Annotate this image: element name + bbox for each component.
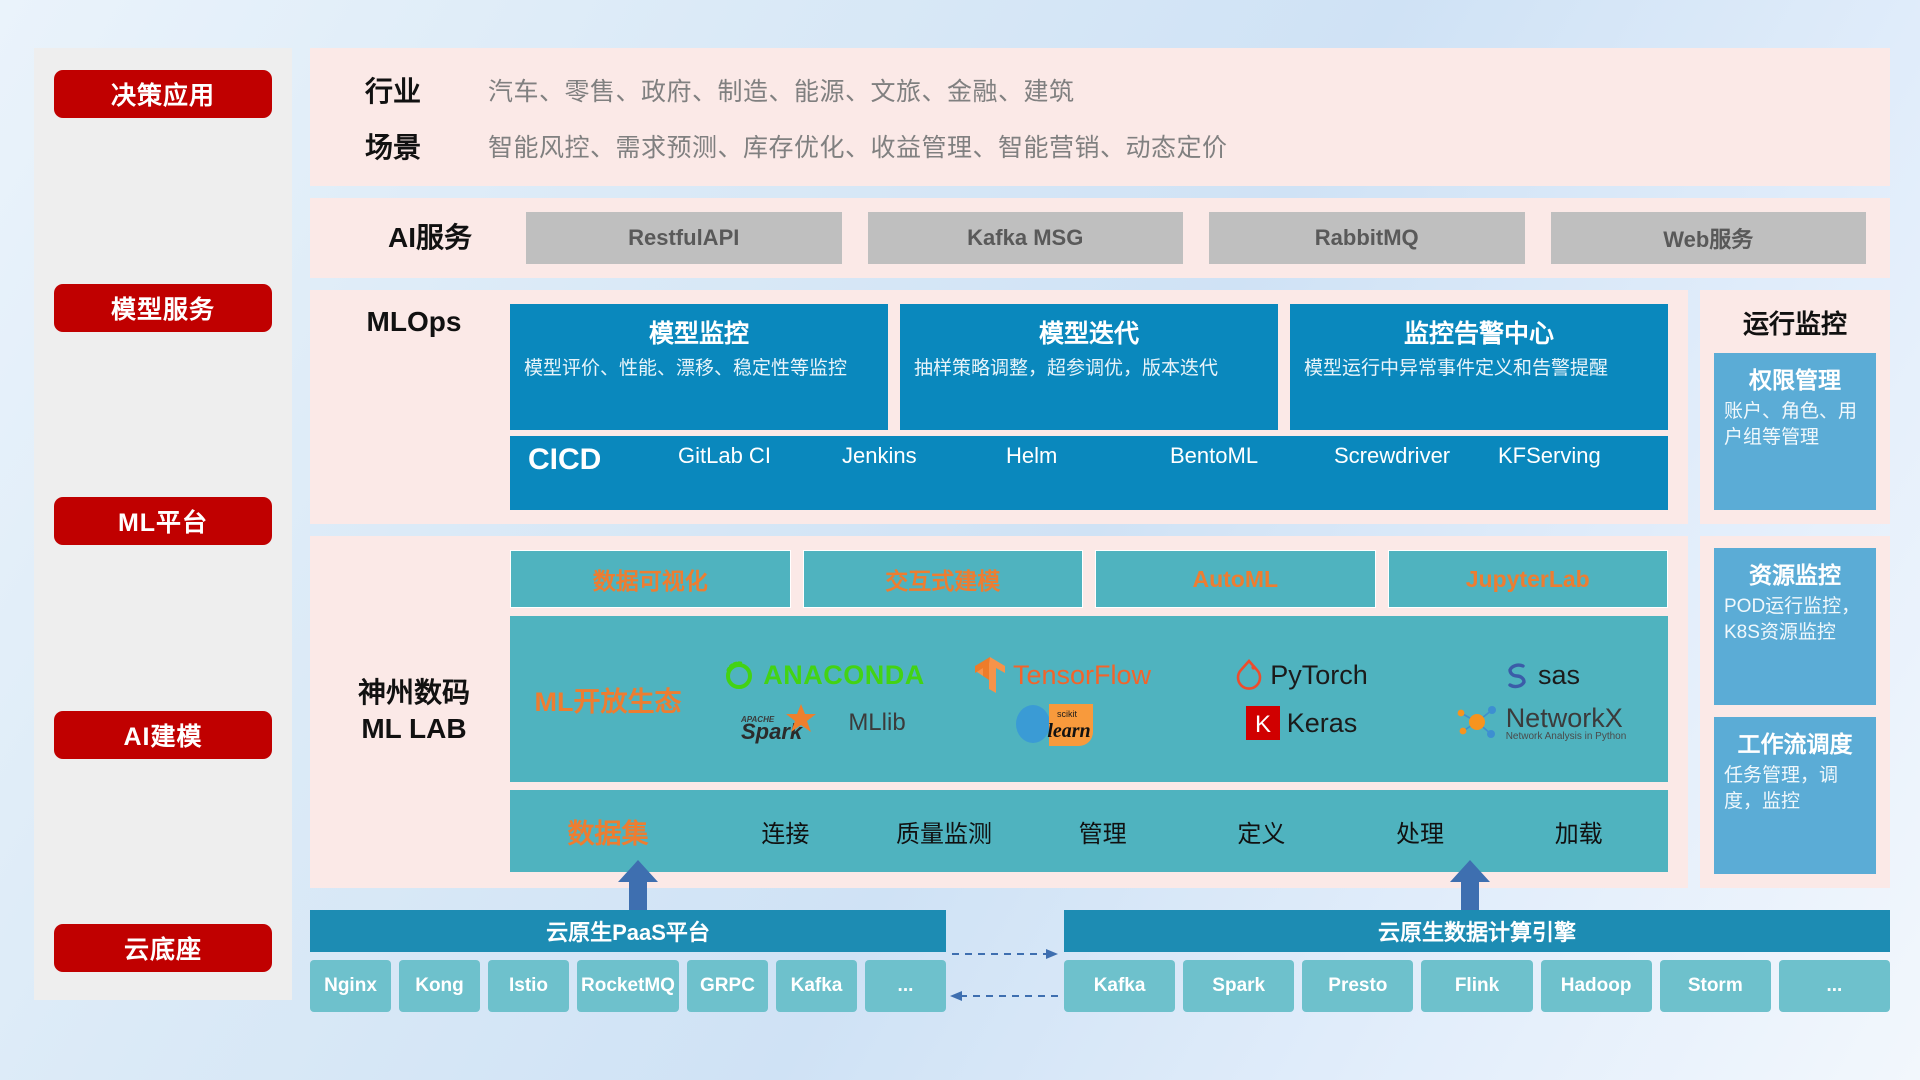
tensorflow-logo[interactable]: TensorFlow	[974, 656, 1151, 694]
monitor-card-title: 权限管理	[1724, 361, 1866, 395]
industry-label: 行业	[320, 70, 466, 110]
monitor-card-desc: 账户、角色、用户组等管理	[1724, 399, 1866, 450]
networkx-logo[interactable]: NetworkX Network Analysis in Python	[1455, 704, 1627, 742]
mlops-cards: 模型监控 模型评价、性能、漂移、稳定性等监控 模型迭代 抽样策略调整，超参调优，…	[510, 304, 1668, 430]
svg-text:K: K	[1255, 711, 1271, 738]
svg-text:scikit: scikit	[1057, 709, 1077, 719]
mlops-label: MLOps	[318, 304, 510, 510]
monitor-card-title: 工作流调度	[1724, 725, 1866, 759]
monitor-card-resource[interactable]: 资源监控 POD运行监控，K8S资源监控	[1714, 548, 1876, 705]
networkx-sublabel: Network Analysis in Python	[1506, 732, 1627, 742]
cicd-item-screwdriver[interactable]: Screwdriver	[1334, 444, 1498, 467]
sas-icon	[1501, 660, 1531, 690]
lab-tool-interactive-modeling[interactable]: 交互式建模	[803, 550, 1084, 608]
monitor-card-workflow[interactable]: 工作流调度 任务管理，调度，监控	[1714, 717, 1876, 874]
lab-tool-data-visualization[interactable]: 数据可视化	[510, 550, 791, 608]
sas-label: sas	[1538, 660, 1580, 691]
cloud-chip-kafka-paas[interactable]: Kafka	[776, 960, 857, 1012]
mlops-card-alert-center[interactable]: 监控告警中心 模型运行中异常事件定义和告警提醒	[1290, 304, 1668, 430]
ml-lab-label: 神州数码 ML LAB	[318, 550, 510, 872]
monitor-panel-top: 运行监控 权限管理 账户、角色、用户组等管理	[1700, 290, 1890, 524]
band-decision-applications: 行业 汽车、零售、政府、制造、能源、文旅、金融、建筑 场景 智能风控、需求预测、…	[310, 48, 1890, 186]
cloud-paas-title: 云原生PaaS平台	[310, 910, 946, 952]
tensorflow-icon	[974, 656, 1006, 694]
cloud-paas-chips: Nginx Kong Istio RocketMQ GRPC Kafka ...	[310, 960, 946, 1012]
ml-lab-label-en: ML LAB	[361, 713, 466, 744]
scikit-learn-logo[interactable]: scikit learn	[1011, 700, 1115, 746]
dataset-item-definition[interactable]: 定义	[1182, 814, 1341, 849]
layer-rail: 决策应用 模型服务 ML平台 AI建模 云底座	[34, 48, 292, 1000]
cloud-chip-kong[interactable]: Kong	[399, 960, 480, 1012]
cloud-chip-grpc[interactable]: GRPC	[687, 960, 768, 1012]
spark-icon: APACHE Spark	[741, 702, 841, 744]
cicd-title: CICD	[528, 444, 678, 476]
cicd-item-bentoml[interactable]: BentoML	[1170, 444, 1334, 467]
cloud-chip-spark[interactable]: Spark	[1183, 960, 1294, 1012]
cloud-chip-flink[interactable]: Flink	[1421, 960, 1532, 1012]
cloud-chip-rocketmq[interactable]: RocketMQ	[577, 960, 679, 1012]
dataset-item-processing[interactable]: 处理	[1341, 814, 1500, 849]
service-chip-web-service[interactable]: Web服务	[1551, 212, 1867, 264]
monitor-panel-bottom: 资源监控 POD运行监控，K8S资源监控 工作流调度 任务管理，调度，监控	[1700, 536, 1890, 888]
anaconda-label: ANACONDA	[763, 660, 925, 691]
cloud-chip-hadoop[interactable]: Hadoop	[1541, 960, 1652, 1012]
cicd-item-kfserving[interactable]: KFServing	[1498, 444, 1662, 467]
scikit-learn-icon: scikit learn	[1011, 700, 1115, 746]
cloud-chip-more-paas[interactable]: ...	[865, 960, 946, 1012]
service-chip-kafka-msg[interactable]: Kafka MSG	[868, 212, 1184, 264]
main-column: 行业 汽车、零售、政府、制造、能源、文旅、金融、建筑 场景 智能风控、需求预测、…	[310, 48, 1890, 1000]
mlops-content: 模型监控 模型评价、性能、漂移、稳定性等监控 模型迭代 抽样策略调整，超参调优，…	[510, 304, 1668, 510]
tensorflow-label: TensorFlow	[1013, 660, 1151, 691]
mlops-card-title: 监控告警中心	[1304, 314, 1654, 350]
keras-icon: K	[1246, 706, 1280, 740]
mlops-card-title: 模型迭代	[914, 314, 1264, 350]
cloud-chip-storm[interactable]: Storm	[1660, 960, 1771, 1012]
applications-rows: 行业 汽车、零售、政府、制造、能源、文旅、金融、建筑 场景 智能风控、需求预测、…	[320, 66, 1868, 166]
lab-tool-automl[interactable]: AutoML	[1095, 550, 1376, 608]
cicd-item-jenkins[interactable]: Jenkins	[842, 444, 1006, 467]
monitor-card-title: 资源监控	[1724, 556, 1866, 590]
ml-open-ecosystem-label: ML开放生态	[510, 680, 706, 719]
cloud-chip-istio[interactable]: Istio	[488, 960, 569, 1012]
ml-lab-label-cn: 神州数码	[358, 677, 470, 708]
cloud-data-engine-column: 云原生数据计算引擎 Kafka Spark Presto Flink Hadoo…	[1064, 910, 1890, 1012]
spark-mllib-logo[interactable]: APACHE Spark MLlib	[741, 702, 905, 744]
industry-value: 汽车、零售、政府、制造、能源、文旅、金融、建筑	[488, 72, 1075, 108]
ai-services-list: RestfulAPI Kafka MSG RabbitMQ Web服务	[526, 212, 1866, 264]
cloud-data-engine-chips: Kafka Spark Presto Flink Hadoop Storm ..…	[1064, 960, 1890, 1012]
row-mlops-and-monitor: MLOps 模型监控 模型评价、性能、漂移、稳定性等监控 模型迭代 抽样策略调整…	[310, 290, 1890, 524]
ecosystem-logo-grid: ANACONDA TensorFlow	[706, 652, 1658, 746]
cloud-paas-column: 云原生PaaS平台 Nginx Kong Istio RocketMQ GRPC…	[310, 910, 946, 1012]
scenario-label: 场景	[320, 126, 466, 166]
dataset-bar: 数据集 连接 质量监测 管理 定义 处理 加载	[510, 790, 1668, 872]
keras-logo[interactable]: K Keras	[1246, 706, 1358, 740]
dataset-item-management[interactable]: 管理	[1023, 814, 1182, 849]
monitor-title: 运行监控	[1714, 304, 1876, 341]
ai-services-label: AI服务	[334, 220, 526, 256]
band-ai-services: AI服务 RestfulAPI Kafka MSG RabbitMQ Web服务	[310, 198, 1890, 278]
service-chip-rabbitmq[interactable]: RabbitMQ	[1209, 212, 1525, 264]
monitor-card-permission[interactable]: 权限管理 账户、角色、用户组等管理	[1714, 353, 1876, 510]
mlops-card-title: 模型监控	[524, 314, 874, 350]
scenario-value: 智能风控、需求预测、库存优化、收益管理、智能营销、动态定价	[488, 128, 1228, 164]
cloud-chip-kafka-engine[interactable]: Kafka	[1064, 960, 1175, 1012]
applications-row-industry: 行业 汽车、零售、政府、制造、能源、文旅、金融、建筑	[320, 70, 1868, 110]
cicd-item-helm[interactable]: Helm	[1006, 444, 1170, 467]
networkx-label: NetworkX	[1506, 705, 1627, 732]
rail-item-cloud-base[interactable]: 云底座	[54, 924, 272, 972]
dataset-label: 数据集	[510, 812, 706, 851]
mlops-card-model-monitoring[interactable]: 模型监控 模型评价、性能、漂移、稳定性等监控	[510, 304, 888, 430]
ml-open-ecosystem: ML开放生态 ANACONDA	[510, 616, 1668, 782]
svg-text:learn: learn	[1047, 720, 1090, 742]
rail-item-ai-modeling[interactable]: AI建模	[54, 711, 272, 759]
mlops-card-desc: 抽样策略调整，超参调优，版本迭代	[914, 356, 1264, 382]
networkx-icon	[1455, 704, 1499, 742]
up-arrow-data-engine-icon	[1448, 860, 1492, 912]
ml-lab-tools: 数据可视化 交互式建模 AutoML JupyterLab	[510, 550, 1668, 608]
rail-item-model-service[interactable]: 模型服务	[54, 284, 272, 332]
band-mlops: MLOps 模型监控 模型评价、性能、漂移、稳定性等监控 模型迭代 抽样策略调整…	[310, 290, 1688, 524]
cicd-item-gitlab-ci[interactable]: GitLab CI	[678, 444, 842, 467]
pytorch-label: PyTorch	[1270, 660, 1368, 691]
cicd-bar: CICD GitLab CI Jenkins Helm BentoML Scre…	[510, 436, 1668, 510]
architecture-diagram: 决策应用 模型服务 ML平台 AI建模 云底座 行业 汽车、零售、政府、制造、能…	[0, 0, 1920, 1080]
row-lab-and-monitor: 神州数码 ML LAB 数据可视化 交互式建模 AutoML JupyterLa…	[310, 536, 1890, 888]
cloud-chip-presto[interactable]: Presto	[1302, 960, 1413, 1012]
monitor-card-desc: POD运行监控，K8S资源监控	[1724, 594, 1866, 645]
dataset-item-quality-monitoring[interactable]: 质量监测	[865, 814, 1024, 849]
anaconda-icon	[722, 658, 756, 692]
sas-logo[interactable]: sas	[1501, 660, 1580, 691]
service-chip-restfulapi[interactable]: RestfulAPI	[526, 212, 842, 264]
mllib-label: MLlib	[848, 709, 905, 737]
dataset-item-connect[interactable]: 连接	[706, 814, 865, 849]
anaconda-logo[interactable]: ANACONDA	[722, 658, 925, 692]
rail-item-ml-platform[interactable]: ML平台	[54, 497, 272, 545]
dataset-items: 连接 质量监测 管理 定义 处理 加载	[706, 814, 1658, 849]
applications-row-scenario: 场景 智能风控、需求预测、库存优化、收益管理、智能营销、动态定价	[320, 126, 1868, 166]
dataset-item-loading[interactable]: 加载	[1499, 814, 1658, 849]
rail-item-decision-app[interactable]: 决策应用	[54, 70, 272, 118]
ml-lab-content: 数据可视化 交互式建模 AutoML JupyterLab ML开放生态	[510, 550, 1668, 872]
lab-tool-jupyterlab[interactable]: JupyterLab	[1388, 550, 1669, 608]
monitor-card-desc: 任务管理，调度，监控	[1724, 763, 1866, 814]
cloud-connector-gap	[946, 910, 1064, 1012]
keras-label: Keras	[1287, 708, 1358, 739]
dashed-connector-icons	[946, 918, 1064, 1018]
mlops-card-model-iteration[interactable]: 模型迭代 抽样策略调整，超参调优，版本迭代	[900, 304, 1278, 430]
cloud-chip-more-engine[interactable]: ...	[1779, 960, 1890, 1012]
mlops-card-desc: 模型运行中异常事件定义和告警提醒	[1304, 356, 1654, 382]
cloud-data-engine-title: 云原生数据计算引擎	[1064, 910, 1890, 952]
cloud-base-section: 云原生PaaS平台 Nginx Kong Istio RocketMQ GRPC…	[310, 910, 1890, 1012]
cloud-chip-nginx[interactable]: Nginx	[310, 960, 391, 1012]
mlops-card-desc: 模型评价、性能、漂移、稳定性等监控	[524, 356, 874, 382]
pytorch-icon	[1235, 658, 1263, 692]
up-arrow-paas-icon	[616, 860, 660, 912]
band-ai-modeling: 神州数码 ML LAB 数据可视化 交互式建模 AutoML JupyterLa…	[310, 536, 1688, 888]
pytorch-logo[interactable]: PyTorch	[1235, 658, 1368, 692]
